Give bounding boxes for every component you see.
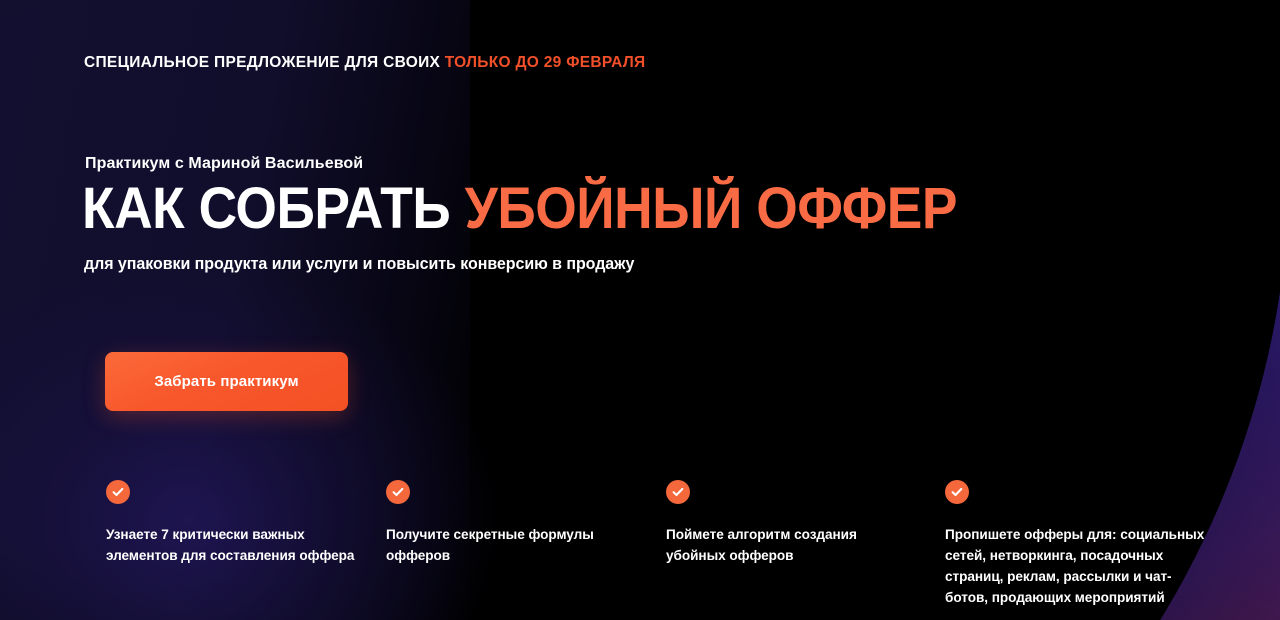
check-circle-icon <box>666 480 690 504</box>
check-circle-icon <box>945 480 969 504</box>
feature-list: Узнаете 7 критически важных элементов дл… <box>0 0 1280 620</box>
check-circle-icon <box>106 480 130 504</box>
feature-text: Поймете алгоритм создания убойных офферо… <box>666 524 896 566</box>
list-item: Узнаете 7 критически важных элементов дл… <box>106 480 356 566</box>
list-item: Поймете алгоритм создания убойных офферо… <box>666 480 896 566</box>
hero-banner: СПЕЦИАЛЬНОЕ ПРЕДЛОЖЕНИЕ ДЛЯ СВОИХ ТОЛЬКО… <box>0 0 1280 620</box>
feature-text: Узнаете 7 критически важных элементов дл… <box>106 524 356 566</box>
list-item: Пропишете офферы для: социальных сетей, … <box>945 480 1205 608</box>
feature-text: Получите секретные формулы офферов <box>386 524 636 566</box>
feature-text: Пропишете офферы для: социальных сетей, … <box>945 524 1205 608</box>
list-item: Получите секретные формулы офферов <box>386 480 636 566</box>
hero-content: СПЕЦИАЛЬНОЕ ПРЕДЛОЖЕНИЕ ДЛЯ СВОИХ ТОЛЬКО… <box>0 0 1280 620</box>
check-circle-icon <box>386 480 410 504</box>
